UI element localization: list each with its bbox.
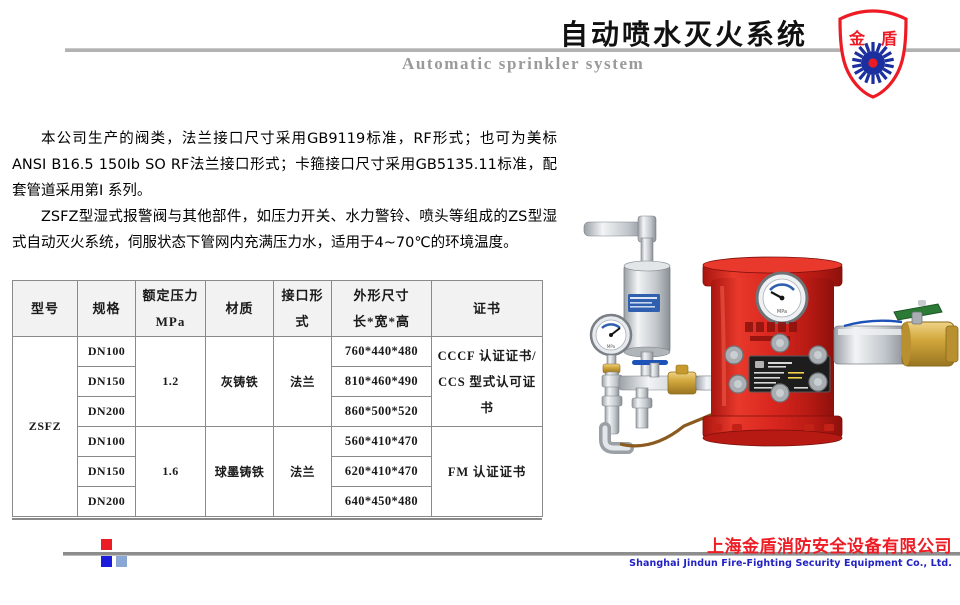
intro-text-block: 本公司生产的阀类，法兰接口尺寸采用GB9119标准，RF形式；也可为美标ANSI…: [12, 126, 557, 256]
footer-company-name-english: Shanghai Jindun Fire-Fighting Security E…: [629, 558, 952, 569]
cell-pressure: 1.6: [136, 427, 206, 517]
jindun-shield-logo: 金 盾: [826, 8, 920, 100]
cell-dimensions: 620*410*470: [332, 457, 432, 487]
cell-connection: 法兰: [274, 337, 332, 427]
col-header-connection-line2: 式: [276, 312, 329, 332]
cell-spec: DN200: [78, 397, 136, 427]
cell-spec: DN100: [78, 337, 136, 367]
cell-pressure: 1.2: [136, 337, 206, 427]
col-header-pressure-line2: MPa: [138, 312, 203, 332]
cell-spec: DN200: [78, 487, 136, 517]
table-row: ZSFZ DN100 1.2 灰铸铁 法兰 760*440*480 CCCF 认…: [13, 337, 543, 367]
cell-spec: DN150: [78, 457, 136, 487]
cell-dimensions: 860*500*520: [332, 397, 432, 427]
page-title-english: Automatic sprinkler system: [402, 54, 644, 74]
cell-material: 球墨铸铁: [206, 427, 274, 517]
logo-char-dun: 盾: [881, 30, 897, 48]
col-header-pressure: 额定压力 MPa: [136, 281, 206, 337]
col-header-material-line1: 材质: [225, 301, 253, 316]
certificate-line-2: CCS 型式认可证书: [438, 375, 536, 415]
page-title-chinese: 自动喷水灭火系统: [560, 13, 808, 53]
spec-table: 型号 规格 额定压力 MPa 材质 接口形 式 外形尺寸 长: [12, 280, 543, 517]
intro-paragraph-1: 本公司生产的阀类，法兰接口尺寸采用GB9119标准，RF形式；也可为美标ANSI…: [12, 126, 557, 204]
col-header-certificate: 证书: [432, 281, 543, 337]
cell-material: 灰铸铁: [206, 337, 274, 427]
footer-marker-blue-square: [101, 556, 112, 567]
col-header-dimensions: 外形尺寸 长*宽*高: [332, 281, 432, 337]
cell-dimensions: 760*440*480: [332, 337, 432, 367]
col-header-connection: 接口形 式: [274, 281, 332, 337]
table-header-row: 型号 规格 额定压力 MPa 材质 接口形 式 外形尺寸 长: [13, 281, 543, 337]
cell-dimensions: 810*460*490: [332, 367, 432, 397]
col-header-spec: 规格: [78, 281, 136, 337]
cell-dimensions: 560*410*470: [332, 427, 432, 457]
cell-spec: DN150: [78, 367, 136, 397]
col-header-material: 材质: [206, 281, 274, 337]
svg-text:MPa: MPa: [607, 344, 616, 349]
cell-certificate: FM 认证证书: [432, 427, 543, 517]
intro-paragraph-2: ZSFZ型湿式报警阀与其他部件，如压力开关、水力警铃、喷头等组成的ZS型湿式自动…: [12, 204, 557, 256]
col-header-certificate-line1: 证书: [473, 301, 501, 316]
footer-marker-red-square: [101, 539, 112, 550]
col-header-pressure-line1: 额定压力: [138, 286, 203, 306]
page-header: 自动喷水灭火系统 Automatic sprinkler system 金 盾: [0, 0, 960, 100]
cell-connection: 法兰: [274, 427, 332, 517]
cell-model: ZSFZ: [13, 337, 78, 517]
col-header-spec-line1: 规格: [92, 301, 120, 316]
footer-company-name-chinese: 上海金盾消防安全设备有限公司: [707, 532, 952, 557]
table-row: DN100 1.6 球墨铸铁 法兰 560*410*470 FM 认证证书: [13, 427, 543, 457]
col-header-connection-line1: 接口形: [276, 286, 329, 306]
cell-certificate: CCCF 认证证书/ CCS 型式认可证书: [432, 337, 543, 427]
certificate-line-1: CCCF 认证证书/: [438, 349, 537, 363]
svg-text:MPa: MPa: [777, 309, 787, 315]
spec-table-container: 型号 规格 额定压力 MPa 材质 接口形 式 外形尺寸 长: [12, 280, 542, 517]
col-header-dimensions-line2: 长*宽*高: [334, 312, 429, 332]
cell-spec: DN100: [78, 427, 136, 457]
logo-char-jin: 金: [848, 29, 866, 48]
footer-marker-light-blue-square: [116, 556, 127, 567]
col-header-dimensions-line1: 外形尺寸: [334, 286, 429, 306]
col-header-model: 型号: [13, 281, 78, 337]
cell-dimensions: 640*450*480: [332, 487, 432, 517]
col-header-model-line1: 型号: [31, 301, 59, 316]
wet-alarm-valve-photo: MPa: [572, 200, 960, 530]
page-footer: 上海金盾消防安全设备有限公司 Shanghai Jindun Fire-Figh…: [0, 528, 960, 605]
